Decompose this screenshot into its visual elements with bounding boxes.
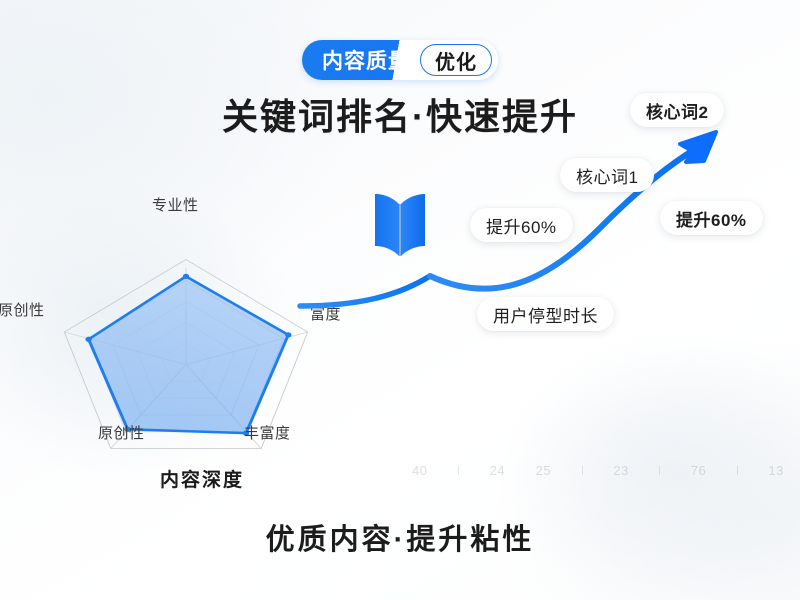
radar-chart: 专业性 富度 丰富度 原创性 原创性	[36, 230, 336, 470]
radar-label-right: 富度	[310, 303, 341, 324]
scale-number-2: 25	[536, 463, 551, 478]
content-quality-badge[interactable]: 内容质量 优化	[302, 40, 498, 80]
callout-keyword-1[interactable]: 核心词1	[560, 158, 654, 192]
scale-number-0: 40	[412, 463, 427, 478]
scale-tick	[458, 466, 459, 475]
callout-uplift-right[interactable]: 提升60%	[660, 201, 763, 235]
poster-canvas: 内容质量 优化 关键词排名·快速提升	[0, 0, 800, 600]
footer-tagline: 优质内容·提升粘性	[0, 516, 800, 558]
scale-number-4: 76	[691, 463, 706, 478]
radar-label-bottom-right: 丰富度	[244, 422, 291, 443]
faded-axis-scale: 40 24 25 23 76 13	[412, 463, 784, 478]
open-book-icon	[372, 190, 428, 262]
scale-tick	[582, 466, 583, 475]
radar-label-left: 原创性	[0, 299, 45, 320]
radar-label-bottom-left: 原创性	[98, 422, 145, 443]
content-depth-label: 内容深度	[160, 465, 244, 492]
scale-number-3: 23	[613, 463, 628, 478]
scale-number-1: 24	[490, 463, 505, 478]
radar-label-top: 专业性	[152, 194, 199, 215]
scale-tick	[737, 466, 738, 475]
callout-dwell-time[interactable]: 用户停型时长	[477, 297, 614, 331]
callout-uplift-left[interactable]: 提升60%	[470, 208, 573, 242]
badge-pill-label: 优化	[420, 44, 492, 76]
radar-series-content-depth	[85, 274, 291, 436]
callout-keyword-2[interactable]: 核心词2	[630, 93, 724, 127]
badge-main-label: 内容质量	[322, 45, 420, 75]
scale-tick	[659, 466, 660, 475]
scale-number-5: 13	[768, 463, 783, 478]
radar-chart-svg	[36, 230, 336, 470]
